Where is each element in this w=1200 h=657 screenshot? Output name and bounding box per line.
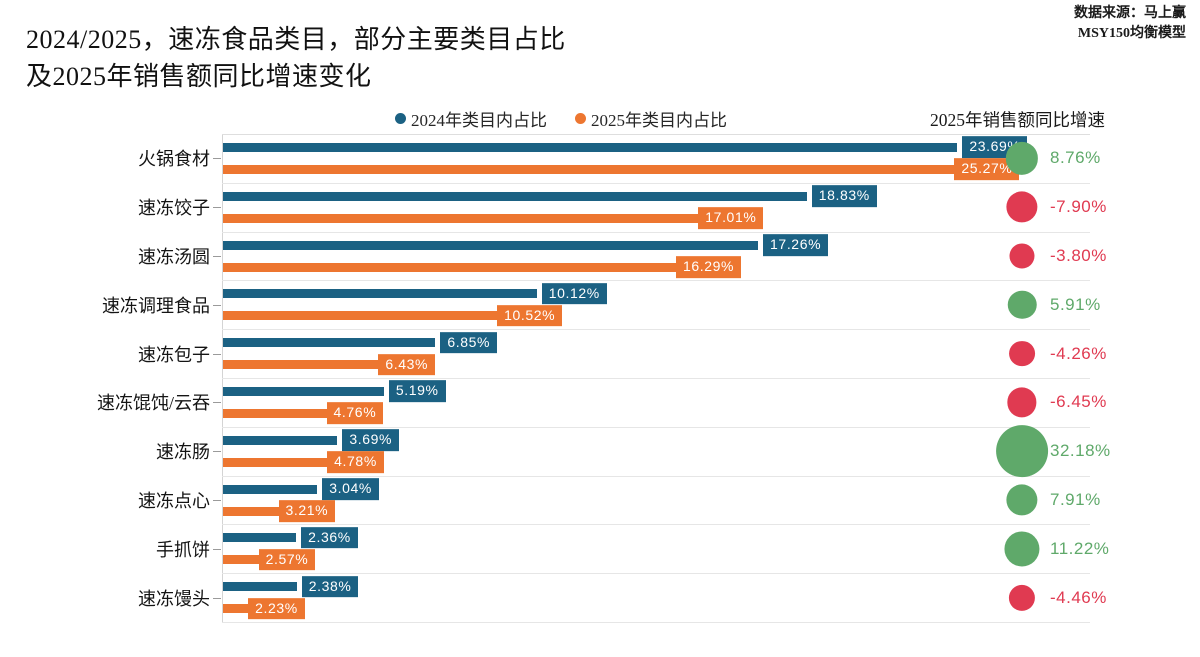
bar-2024[interactable] [223, 241, 758, 250]
bar-label-2024: 18.83% [812, 185, 877, 207]
growth-bubble[interactable] [1009, 243, 1034, 268]
growth-value: 32.18% [1050, 441, 1111, 461]
axis-tick [213, 158, 221, 159]
bar-2024[interactable] [223, 143, 957, 152]
bar-label-2025: 4.76% [327, 403, 384, 425]
growth-bubble[interactable] [1008, 291, 1037, 320]
bar-label-2024: 5.19% [389, 381, 446, 403]
axis-tick [213, 549, 221, 550]
growth-value: 5.91% [1050, 295, 1101, 315]
bar-label-2025: 3.21% [279, 500, 336, 522]
growth-value: 8.76% [1050, 148, 1101, 168]
legend-dot-2025-icon [575, 113, 586, 124]
growth-bubble[interactable] [1004, 531, 1039, 566]
growth-bubble[interactable] [1007, 388, 1036, 417]
axis-tick [213, 598, 221, 599]
legend-label-2025: 2025年类目内占比 [591, 106, 727, 131]
bar-label-2025: 2.23% [248, 598, 305, 620]
axis-tick [213, 256, 221, 257]
bar-label-2024: 3.04% [322, 478, 379, 500]
chart-title: 2024/2025，速冻食品类目，部分主要类目占比 及2025年销售额同比增速变… [26, 22, 566, 96]
category-label: 速冻肠 [156, 438, 210, 464]
growth-column-header: 2025年销售额同比增速 [930, 107, 1105, 132]
axis-tick [213, 451, 221, 452]
category-label: 速冻包子 [138, 341, 210, 367]
bar-2024[interactable] [223, 485, 317, 494]
growth-bubble[interactable] [1006, 142, 1038, 174]
bar-label-2024: 6.85% [440, 332, 497, 354]
axis-tick [213, 305, 221, 306]
bar-2025[interactable] [223, 214, 750, 223]
legend-label-2024: 2024年类目内占比 [411, 106, 547, 131]
growth-bubble[interactable] [1009, 341, 1035, 367]
legend-item-2024: 2024年类目内占比 [395, 106, 547, 131]
axis-tick [213, 500, 221, 501]
bar-label-2025: 17.01% [698, 207, 763, 229]
bar-label-2025: 16.29% [676, 256, 741, 278]
growth-value: 11.22% [1050, 539, 1109, 559]
bar-2025[interactable] [223, 165, 1006, 174]
bar-2024[interactable] [223, 338, 435, 347]
growth-value: -3.80% [1050, 246, 1107, 266]
growth-bubble[interactable] [1006, 484, 1037, 515]
data-source-line-1: 数据来源：马上赢 [1074, 4, 1186, 24]
growth-bubble[interactable] [996, 425, 1048, 477]
growth-value: -6.45% [1050, 392, 1107, 412]
category-label: 速冻汤圆 [138, 243, 210, 269]
growth-value: -4.46% [1050, 588, 1107, 608]
category-label: 手抓饼 [156, 536, 210, 562]
growth-bubble[interactable] [1009, 584, 1035, 610]
category-label: 速冻饺子 [138, 194, 210, 220]
bar-2024[interactable] [223, 582, 297, 591]
chart-canvas: 数据来源：马上赢 MSY150均衡模型 2024/2025，速冻食品类目，部分主… [0, 0, 1200, 657]
bar-label-2025: 2.57% [259, 549, 316, 571]
bar-2024[interactable] [223, 289, 537, 298]
growth-value: -7.90% [1050, 197, 1107, 217]
category-label: 速冻馄饨/云吞 [97, 389, 210, 415]
axis-tick [213, 207, 221, 208]
legend-item-2025: 2025年类目内占比 [575, 106, 727, 131]
category-label: 速冻馒头 [138, 585, 210, 611]
bar-label-2025: 6.43% [378, 354, 435, 376]
bar-2025[interactable] [223, 263, 728, 272]
bar-label-2024: 3.69% [342, 429, 399, 451]
bar-label-2024: 10.12% [542, 283, 607, 305]
axis-tick [213, 354, 221, 355]
category-label: 速冻调理食品 [102, 292, 210, 318]
bar-2024[interactable] [223, 387, 384, 396]
bar-label-2025: 4.78% [327, 451, 384, 473]
bar-2024[interactable] [223, 436, 337, 445]
category-axis: 火锅食材速冻饺子速冻汤圆速冻调理食品速冻包子速冻馄饨/云吞速冻肠速冻点心手抓饼速… [0, 134, 210, 622]
bar-label-2024: 17.26% [763, 234, 828, 256]
bar-2024[interactable] [223, 192, 807, 201]
category-label: 火锅食材 [138, 145, 210, 171]
bar-label-2024: 2.36% [301, 527, 358, 549]
gridline [222, 622, 1090, 623]
legend-dot-2024-icon [395, 113, 406, 124]
growth-bubble[interactable] [1006, 192, 1037, 223]
growth-bubble-column: 8.76%-7.90%-3.80%5.91%-4.26%-6.45%32.18%… [960, 134, 1200, 622]
data-source-line-2: MSY150均衡模型 [1074, 24, 1186, 44]
axis-tick [213, 402, 221, 403]
category-label: 速冻点心 [138, 487, 210, 513]
growth-value: -4.26% [1050, 344, 1107, 364]
bar-2024[interactable] [223, 533, 296, 542]
chart-legend: 2024年类目内占比 2025年类目内占比 [395, 106, 727, 131]
bar-label-2025: 10.52% [497, 305, 562, 327]
growth-value: 7.91% [1050, 490, 1101, 510]
data-source-note: 数据来源：马上赢 MSY150均衡模型 [1074, 4, 1186, 45]
bar-label-2024: 2.38% [302, 576, 359, 598]
